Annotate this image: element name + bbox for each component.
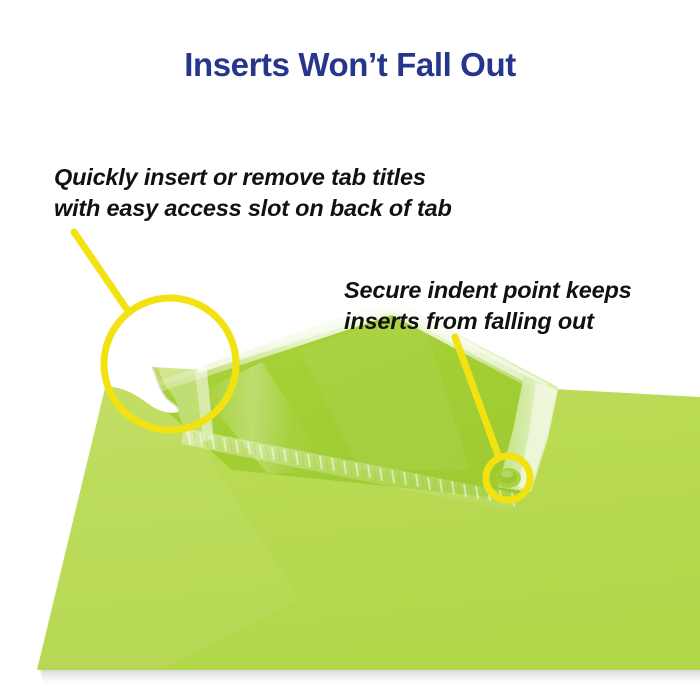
product-feature-callout-image: Inserts Won’t Fall Out Quickly insert or… [0,0,700,700]
callout-left [74,232,236,430]
callout-caption-right: Secure indent point keeps inserts from f… [344,275,632,337]
callout-overlay [0,0,700,700]
leader-line-icon [455,337,498,455]
circle-outline-icon [104,298,236,430]
callout-caption-left: Quickly insert or remove tab titles with… [54,162,452,224]
leader-line-icon [74,232,126,308]
circle-outline-icon [486,456,530,500]
callout-right [455,337,530,500]
page-title: Inserts Won’t Fall Out [0,46,700,84]
